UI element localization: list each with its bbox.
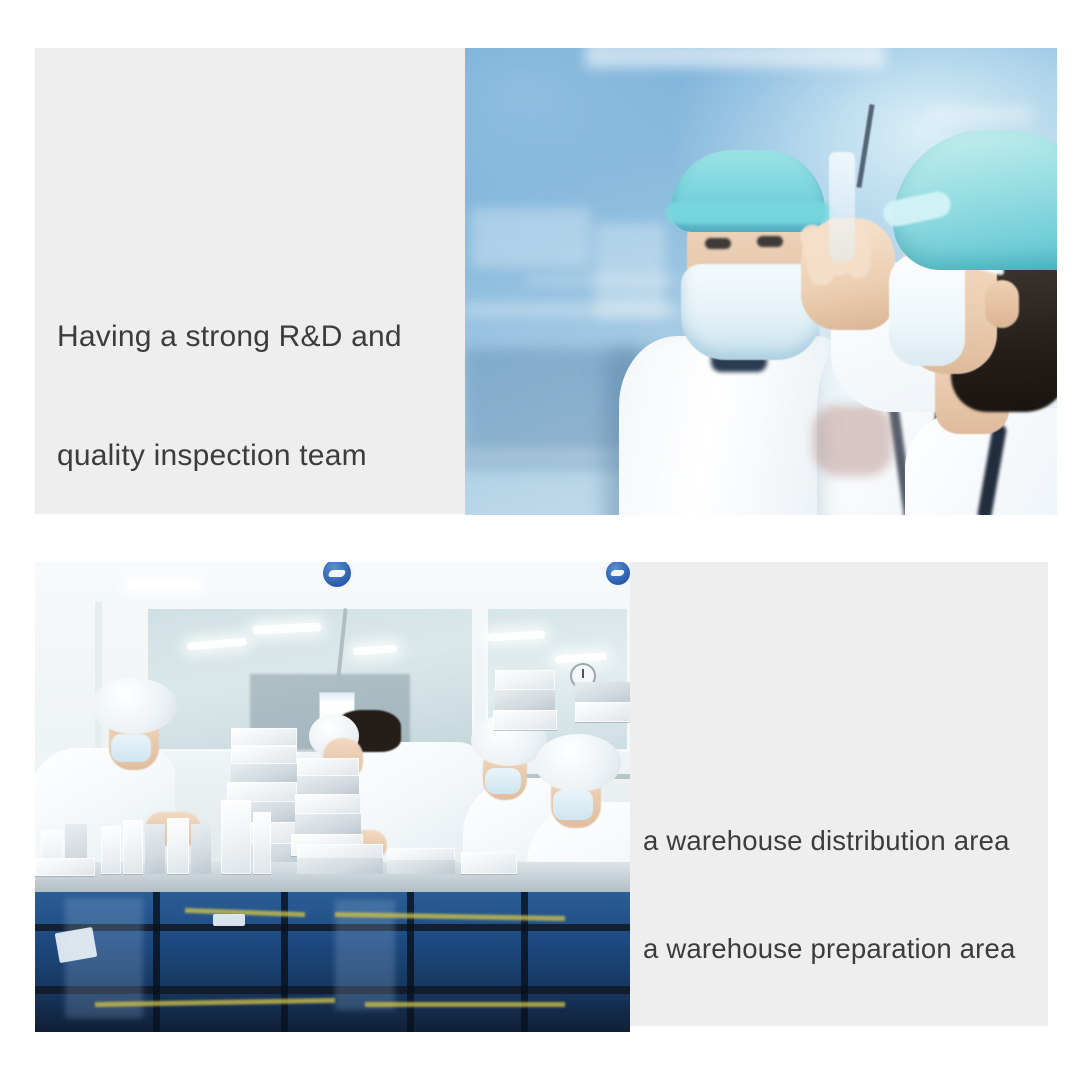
- background-counter-edge: [465, 303, 678, 317]
- lab-sample-vial: [829, 152, 855, 262]
- warehouse-worker-4-face-mask: [553, 790, 593, 820]
- warehouse-worker-1-face-mask: [111, 734, 151, 762]
- carton-box: [295, 814, 361, 834]
- lab-worker-b-hand-lower: [813, 404, 893, 476]
- warehouse-worker-4-hairnet: [535, 734, 621, 792]
- carton-box: [387, 860, 455, 874]
- background-shelf: [471, 208, 591, 268]
- blue-circular-sign-icon: [603, 562, 630, 588]
- carton-box: [297, 758, 359, 776]
- rd-quality-photo: [465, 48, 1057, 515]
- lab-worker-a-eye-left: [705, 238, 731, 249]
- carton-box: [295, 794, 361, 814]
- background-right-shelf-top: [927, 106, 1032, 122]
- carton-box: [191, 824, 211, 874]
- white-bottle: [221, 800, 251, 874]
- ceiling-light: [127, 580, 201, 590]
- table-paper-sheet: [213, 914, 245, 926]
- ceiling-light-glow: [585, 48, 885, 68]
- warehouse-caption-line-1: a warehouse distribution area: [643, 823, 1016, 859]
- lab-worker-a-hairnet: [671, 150, 825, 232]
- carton-box: [495, 670, 555, 690]
- carton-box: [35, 858, 95, 876]
- carton-box: [297, 776, 359, 794]
- lab-worker-c-ear: [985, 280, 1019, 328]
- table-leg: [521, 892, 528, 1032]
- warehouse-caption-line-2: a warehouse preparation area: [643, 931, 1016, 967]
- page-canvas: Having a strong R&D and quality inspecti…: [0, 0, 1080, 1080]
- carton-box: [253, 812, 271, 874]
- carton-box: [231, 728, 297, 746]
- lab-worker-c-face-mask: [889, 254, 965, 366]
- carton-box: [495, 690, 555, 710]
- carton-box: [297, 858, 383, 874]
- lab-worker-a-eye-right: [757, 236, 783, 247]
- carton-box: [575, 702, 630, 722]
- table-leg: [153, 892, 160, 1032]
- warehouse-worker-1-hairnet: [91, 678, 177, 734]
- carton-box: [145, 824, 165, 874]
- carton-box: [231, 746, 297, 764]
- carton-box: [231, 764, 297, 782]
- lab-worker-a-face-mask: [681, 264, 821, 360]
- warehouse-photo: [35, 562, 630, 1032]
- carton-box: [123, 820, 143, 874]
- warehouse-worker-3-face-mask: [485, 768, 521, 794]
- lab-pipette-needle: [856, 104, 874, 188]
- warehouse-caption: a warehouse distribution area a warehous…: [643, 750, 1016, 1040]
- background-rail: [525, 276, 675, 284]
- rd-quality-caption-line-1: Having a strong R&D and: [57, 317, 402, 357]
- floor-hazard-stripe: [365, 1002, 565, 1007]
- carton-box: [227, 782, 297, 802]
- rd-quality-caption: Having a strong R&D and quality inspecti…: [57, 238, 402, 555]
- rd-quality-caption-line-2: quality inspection team: [57, 436, 402, 476]
- carton-box: [167, 818, 189, 874]
- carton-box: [575, 682, 630, 702]
- carton-box: [461, 852, 517, 874]
- carton-box: [493, 710, 557, 730]
- carton-box: [101, 826, 121, 874]
